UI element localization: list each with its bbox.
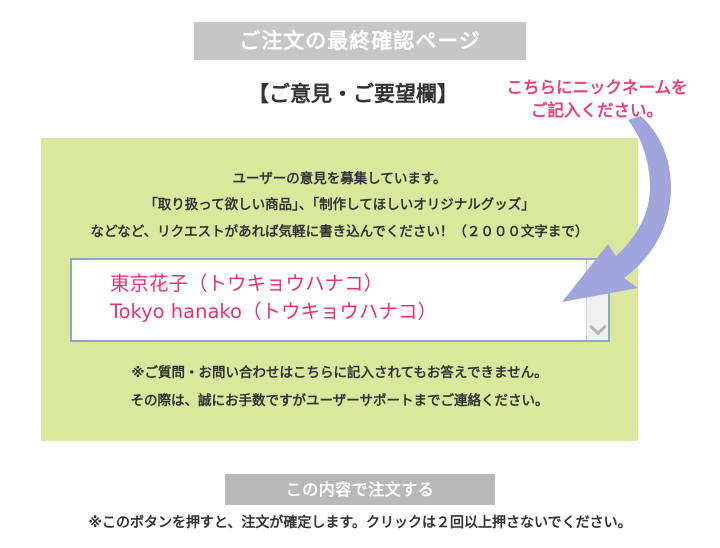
place-order-button[interactable]: この内容で注文する (225, 474, 495, 505)
comment-intro-line-3: などなど、リクエストがあれば気軽に書き込んでください！（２０００文字まで） (41, 219, 638, 245)
comment-note-line-2: その際は、誠にお手数ですがユーザーサポートまでご連絡ください。 (41, 388, 638, 416)
order-footer-note: ※このボタンを押すと、注文が確定します。クリックは２回以上押さないでください。 (0, 512, 720, 532)
comment-textarea-line-1: 東京花子（トウキョウハナコ） (110, 270, 580, 298)
comment-textarea[interactable]: 東京花子（トウキョウハナコ） Tokyo hanako（トウキョウハナコ） (70, 258, 610, 342)
nickname-callout-line-1: こちらにニックネームを (506, 78, 687, 97)
comment-textarea-line-2: Tokyo hanako（トウキョウハナコ） (110, 298, 580, 326)
nickname-callout: こちらにニックネームを ご記入ください。 (478, 76, 716, 123)
comment-textarea-content[interactable]: 東京花子（トウキョウハナコ） Tokyo hanako（トウキョウハナコ） (72, 260, 586, 340)
comment-intro-line-2: 「取り扱って欲しい商品」、「制作してほしいオリジナルグッズ」 (41, 192, 638, 218)
comment-textarea-scrollbar[interactable] (586, 260, 608, 340)
page-header-bar: ご注文の最終確認ページ (194, 22, 526, 60)
comment-section-panel: ユーザーの意見を募集しています。 「取り扱って欲しい商品」、「制作してほしいオリ… (41, 138, 638, 441)
nickname-callout-line-2: ご記入ください。 (531, 101, 663, 120)
comment-intro-text: ユーザーの意見を募集しています。 「取り扱って欲しい商品」、「制作してほしいオリ… (41, 166, 638, 245)
comment-intro-line-1: ユーザーの意見を募集しています。 (41, 166, 638, 192)
chevron-up-icon[interactable] (591, 269, 605, 278)
chevron-down-icon[interactable] (591, 322, 605, 331)
comment-notes-text: ※ご質問・お問い合わせはこちらに記入されてもお答えできません。 その際は、誠にお… (41, 360, 638, 415)
section-title: 【ご意見・ご要望欄】 (248, 78, 458, 108)
comment-note-line-1: ※ご質問・お問い合わせはこちらに記入されてもお答えできません。 (41, 360, 638, 388)
place-order-button-label: この内容で注文する (286, 482, 435, 498)
page-title: ご注文の最終確認ページ (239, 31, 481, 52)
